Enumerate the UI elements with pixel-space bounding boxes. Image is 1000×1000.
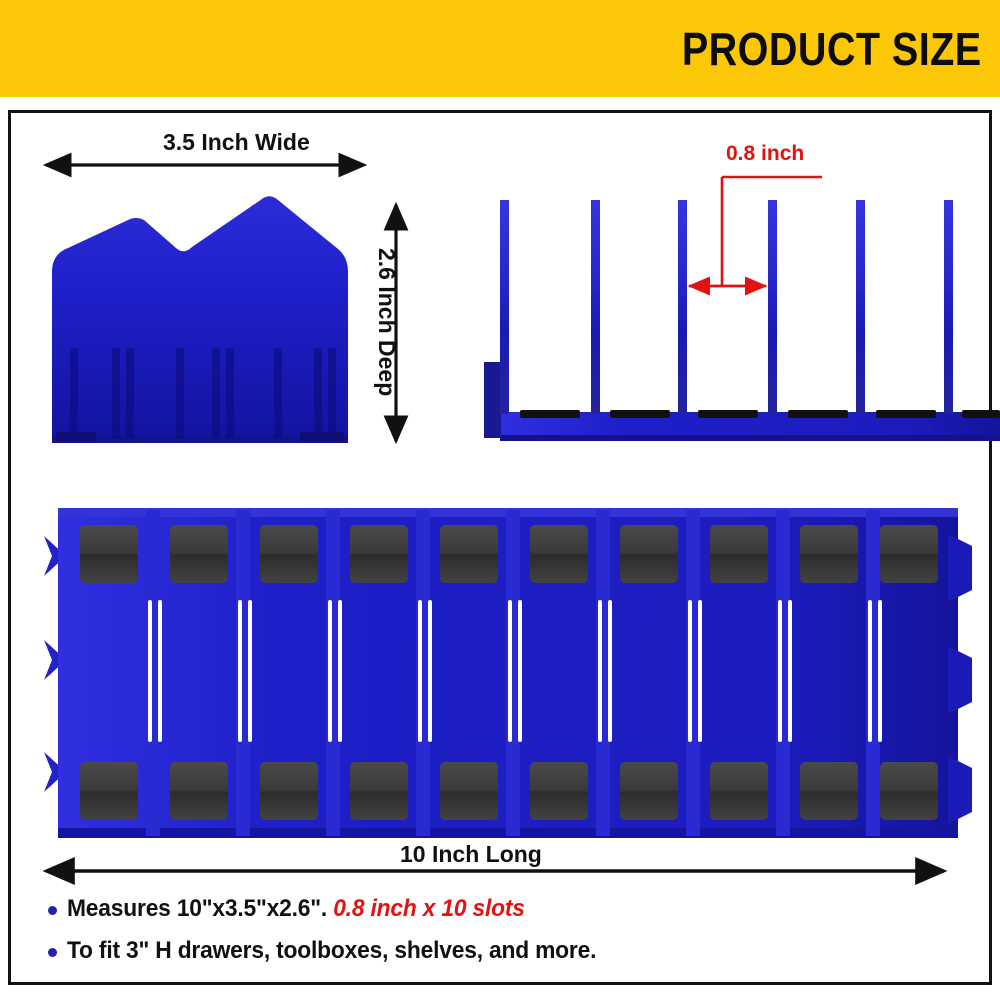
- width-dimension-label: 3.5 Inch Wide: [163, 129, 310, 156]
- header-banner: PRODUCT SIZE: [0, 0, 1000, 97]
- bullet-main-text: Measures 10"x3.5"x2.6".: [67, 895, 333, 922]
- bullet-emphasis-text: 0.8 inch x 10 slots: [333, 895, 525, 922]
- bullet-dot-icon: [48, 948, 57, 957]
- list-item: To fit 3" H drawers, toolboxes, shelves,…: [48, 937, 948, 965]
- list-item: Measures 10"x3.5"x2.6". 0.8 inch x 10 sl…: [48, 895, 948, 923]
- infographic-root: PRODUCT SIZE: [0, 0, 1000, 1000]
- spec-bullet-list: Measures 10"x3.5"x2.6". 0.8 inch x 10 sl…: [48, 895, 948, 978]
- bullet-main-text: To fit 3" H drawers, toolboxes, shelves,…: [67, 937, 596, 964]
- depth-dimension-label: 2.6 Inch Deep: [373, 248, 400, 396]
- slot-width-callout-label: 0.8 inch: [726, 142, 804, 166]
- length-dimension-label: 10 Inch Long: [400, 841, 542, 868]
- bullet-dot-icon: [48, 906, 57, 915]
- page-title: PRODUCT SIZE: [681, 26, 1000, 72]
